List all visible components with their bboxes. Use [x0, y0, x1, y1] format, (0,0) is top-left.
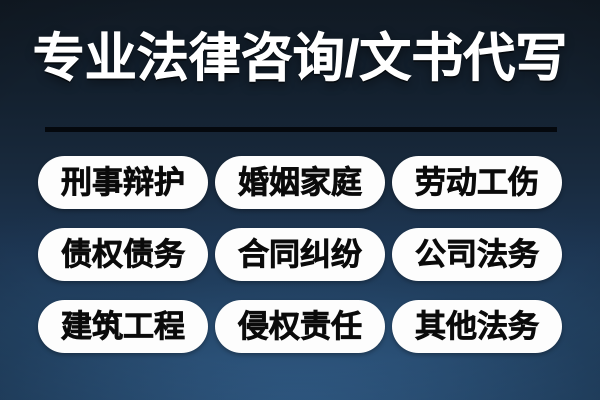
service-pill-label: 合同纠纷 [238, 239, 362, 270]
service-pill-label: 婚姻家庭 [238, 167, 362, 198]
service-pill-grid: 刑事辩护 婚姻家庭 劳动工伤 债权债务 合同纠纷 公司法务 建筑工程 [0, 156, 600, 372]
service-pill-label: 建筑工程 [61, 311, 185, 342]
service-pill-debt-claims[interactable]: 债权债务 [38, 228, 208, 281]
service-pill-label: 侵权责任 [238, 311, 362, 342]
service-pill-tort-liability[interactable]: 侵权责任 [215, 300, 385, 353]
service-pill-marriage-family[interactable]: 婚姻家庭 [215, 156, 385, 209]
service-row: 债权债务 合同纠纷 公司法务 [0, 228, 600, 281]
headline-block: 专业法律咨询/文书代写 [0, 28, 600, 90]
service-pill-criminal-defense[interactable]: 刑事辩护 [38, 156, 208, 209]
service-row: 刑事辩护 婚姻家庭 劳动工伤 [0, 156, 600, 209]
service-pill-corporate-legal[interactable]: 公司法务 [392, 228, 562, 281]
service-pill-label: 债权债务 [61, 239, 185, 270]
service-pill-labor-injury[interactable]: 劳动工伤 [392, 156, 562, 209]
service-pill-label: 刑事辩护 [61, 167, 185, 198]
service-pill-label: 公司法务 [415, 239, 539, 270]
service-pill-label: 其他法务 [415, 311, 539, 342]
legal-services-poster: 专业法律咨询/文书代写 刑事辩护 婚姻家庭 劳动工伤 债权债务 合同纠纷 公司法… [0, 0, 600, 400]
title-divider [45, 127, 557, 132]
page-title: 专业法律咨询/文书代写 [0, 28, 600, 90]
service-pill-label: 劳动工伤 [415, 167, 539, 198]
service-row: 建筑工程 侵权责任 其他法务 [0, 300, 600, 353]
service-pill-contract-disputes[interactable]: 合同纠纷 [215, 228, 385, 281]
service-pill-other-legal[interactable]: 其他法务 [392, 300, 562, 353]
service-pill-construction-engineering[interactable]: 建筑工程 [38, 300, 208, 353]
